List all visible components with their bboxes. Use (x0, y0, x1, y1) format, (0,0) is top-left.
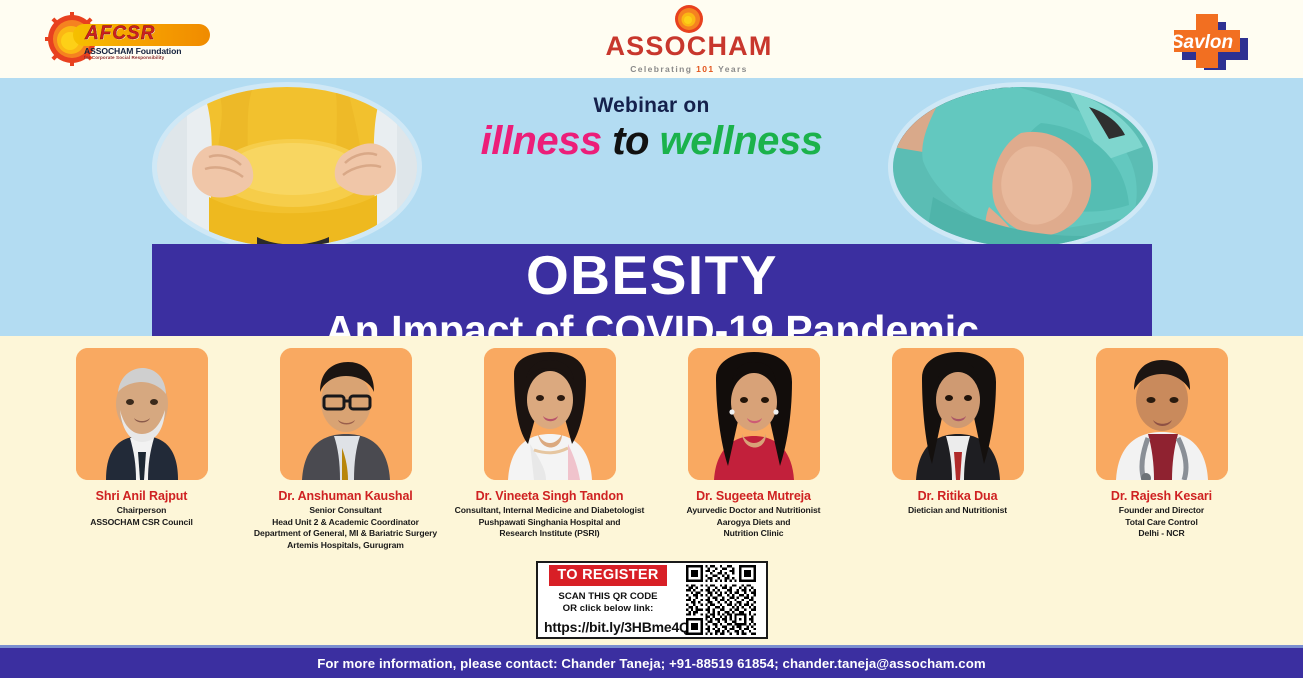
speaker-photo (76, 348, 208, 480)
speaker-name: Dr. Ritika Dua (918, 489, 998, 503)
hero-image-left-art (157, 87, 417, 247)
assocham-wordmark: ASSOCHAM (584, 33, 794, 60)
campaign-word-to: to (612, 119, 649, 163)
tagline-post: Years (715, 64, 748, 74)
speaker-role-line: Senior Consultant (254, 505, 437, 516)
speaker-name: Dr. Vineeta Singh Tandon (476, 489, 624, 503)
speaker-role-line: Head Unit 2 & Academic Coordinator (254, 517, 437, 528)
hero-image-left (152, 82, 422, 252)
speaker-photo (892, 348, 1024, 480)
speaker-role-line: Pushpawati Singhania Hospital and (455, 517, 645, 528)
assocham-logo: ASSOCHAM Celebrating 101 Years (584, 4, 794, 74)
speaker-card: Dr. Anshuman Kaushal Senior Consultant H… (244, 336, 448, 551)
speaker-role-line: ASSOCHAM CSR Council (90, 517, 193, 528)
portrait-illustration (280, 348, 412, 480)
register-text-block: TO REGISTER SCAN THIS QR CODE OR click b… (544, 565, 672, 636)
register-box[interactable]: TO REGISTER SCAN THIS QR CODE OR click b… (536, 561, 768, 639)
speaker-role-line: Chairperson (90, 505, 193, 516)
speaker-role-line: Research Institute (PSRI) (455, 528, 645, 539)
speakers-row: Shri Anil Rajput Chairperson ASSOCHAM CS… (0, 336, 1303, 551)
speaker-role: Chairperson ASSOCHAM CSR Council (87, 505, 196, 528)
portrait-illustration (892, 348, 1024, 480)
portrait-illustration (76, 348, 208, 480)
speaker-card: Dr. Sugeeta Mutreja Ayurvedic Doctor and… (652, 336, 856, 551)
speaker-role-line: Consultant, Internal Medicine and Diabet… (455, 505, 645, 516)
speaker-photo (484, 348, 616, 480)
register-instruction-line1: SCAN THIS QR CODE (544, 591, 672, 603)
speaker-name: Dr. Sugeeta Mutreja (696, 489, 811, 503)
hero-section: Webinar on illness to wellness (0, 78, 1303, 336)
portrait-illustration (1096, 348, 1228, 480)
savlon-cross-icon: Savlon (1158, 8, 1263, 70)
speaker-role-line: Total Care Control (1119, 517, 1204, 528)
portrait-illustration (688, 348, 820, 480)
to-register-badge: TO REGISTER (549, 565, 666, 586)
speaker-role-line: Founder and Director (1119, 505, 1204, 516)
speaker-role: Ayurvedic Doctor and Nutritionist Aarogy… (684, 505, 824, 539)
assocham-sun-icon (674, 4, 704, 34)
speaker-role-line: Dietician and Nutritionist (908, 505, 1007, 516)
savlon-logo: Savlon (1158, 8, 1263, 70)
right-image-illustration (893, 87, 1158, 252)
speaker-role: Dietician and Nutritionist (905, 505, 1010, 516)
assocham-tagline: Celebrating 101 Years (584, 64, 794, 74)
speaker-name: Dr. Rajesh Kesari (1111, 489, 1212, 503)
afcsr-line2: for Corporate Social Responsibility (84, 55, 224, 60)
speaker-role-line: Department of General, MI & Bariatric Su… (254, 528, 437, 539)
register-instructions: SCAN THIS QR CODE OR click below link: (544, 591, 672, 616)
speaker-card: Dr. Ritika Dua Dietician and Nutritionis… (856, 336, 1060, 551)
tagline-pre: Celebrating (630, 64, 696, 74)
speaker-role: Founder and Director Total Care Control … (1116, 505, 1207, 539)
speaker-role-line: Aarogya Diets and (687, 517, 821, 528)
qr-code[interactable] (672, 565, 756, 635)
afcsr-logo: AFCSR ASSOCHAM Foundation for Corporate … (40, 8, 220, 70)
campaign-word-wellness: wellness (660, 119, 823, 163)
svg-text:Savlon: Savlon (1171, 32, 1233, 53)
afcsr-acronym: AFCSR (85, 23, 205, 45)
speaker-role-line: Nutrition Clinic (687, 528, 821, 539)
speaker-role-line: Delhi - NCR (1119, 528, 1204, 539)
speaker-role: Senior Consultant Head Unit 2 & Academic… (251, 505, 440, 551)
footer-contact-text: For more information, please contact: Ch… (317, 656, 985, 671)
speaker-card: Dr. Rajesh Kesari Founder and Director T… (1060, 336, 1264, 551)
tagline-years: 101 (696, 64, 714, 74)
footer-bar: For more information, please contact: Ch… (0, 648, 1303, 678)
speaker-role-line: Artemis Hospitals, Gurugram (254, 540, 437, 551)
speaker-role-line: Ayurvedic Doctor and Nutritionist (687, 505, 821, 516)
hero-image-right-art (893, 87, 1153, 247)
speaker-card: Shri Anil Rajput Chairperson ASSOCHAM CS… (40, 336, 244, 551)
top-logo-bar: AFCSR ASSOCHAM Foundation for Corporate … (0, 0, 1303, 78)
campaign-word-illness: illness (481, 119, 602, 163)
title-obesity: OBESITY (152, 247, 1152, 305)
speaker-photo (688, 348, 820, 480)
qr-code-icon[interactable] (686, 565, 756, 635)
register-link[interactable]: https://bit.ly/3HBme4Q (544, 619, 672, 635)
register-instruction-line2: OR click below link: (544, 603, 672, 615)
speaker-card: Dr. Vineeta Singh Tandon Consultant, Int… (448, 336, 652, 551)
speaker-role: Consultant, Internal Medicine and Diabet… (452, 505, 648, 539)
speaker-name: Shri Anil Rajput (96, 489, 188, 503)
speaker-photo (280, 348, 412, 480)
left-image-illustration (157, 87, 422, 252)
portrait-illustration (484, 348, 616, 480)
hero-image-right (888, 82, 1158, 252)
speaker-name: Dr. Anshuman Kaushal (278, 489, 412, 503)
speaker-photo (1096, 348, 1228, 480)
